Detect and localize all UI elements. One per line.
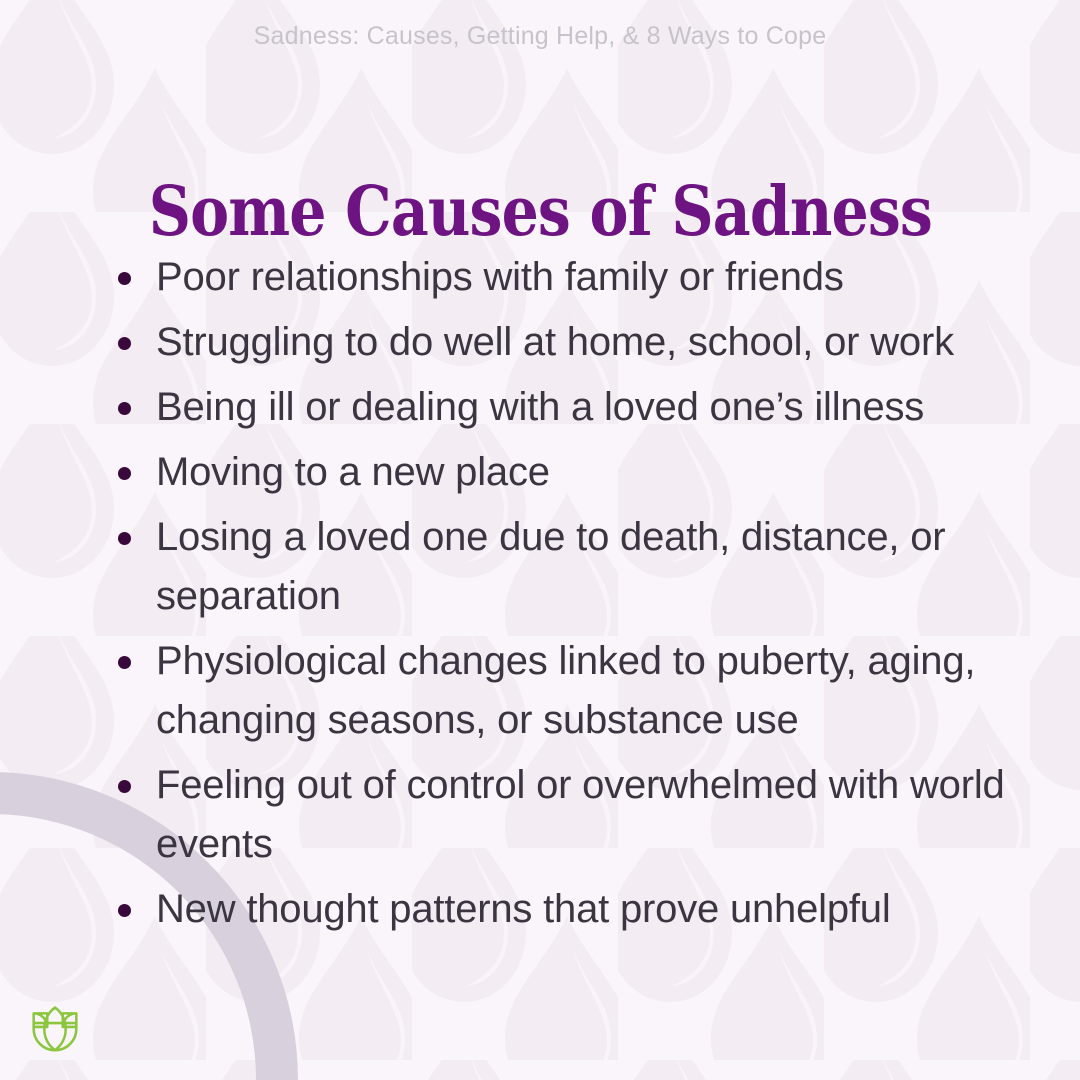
bullet-dot-icon	[118, 467, 131, 480]
bullet-dot-icon	[118, 904, 131, 917]
list-item: Losing a loved one due to death, distanc…	[108, 508, 1028, 626]
list-item-label: Poor relationships with family or friend…	[156, 255, 844, 299]
list-item: New thought patterns that prove unhelpfu…	[108, 880, 1028, 939]
list-item-label: Moving to a new place	[156, 450, 550, 494]
eyebrow-header: Sadness: Causes, Getting Help, & 8 Ways …	[0, 0, 1080, 72]
bullet-dot-icon	[118, 532, 131, 545]
list-item-label: Struggling to do well at home, school, o…	[156, 320, 954, 364]
page-title: Some Causes of Sadness	[148, 178, 931, 246]
list-item: Being ill or dealing with a loved one’s …	[108, 378, 1028, 437]
list-item: Feeling out of control or overwhelmed wi…	[108, 756, 1028, 874]
bullet-dot-icon	[118, 337, 131, 350]
bullet-dot-icon	[118, 402, 131, 415]
bullet-dot-icon	[118, 780, 131, 793]
list-item-label: Physiological changes linked to puberty,…	[156, 639, 975, 742]
causes-list: Poor relationships with family or friend…	[108, 248, 1028, 945]
list-item-label: Feeling out of control or overwhelmed wi…	[156, 763, 1005, 866]
list-item-label: Losing a loved one due to death, distanc…	[156, 515, 945, 618]
list-item: Moving to a new place	[108, 443, 1028, 502]
list-item: Struggling to do well at home, school, o…	[108, 313, 1028, 372]
list-item-label: New thought patterns that prove unhelpfu…	[156, 887, 891, 931]
list-item-label: Being ill or dealing with a loved one’s …	[156, 385, 924, 429]
list-item: Poor relationships with family or friend…	[108, 248, 1028, 307]
bullet-dot-icon	[118, 272, 131, 285]
list-item: Physiological changes linked to puberty,…	[108, 632, 1028, 750]
eyebrow-text: Sadness: Causes, Getting Help, & 8 Ways …	[254, 22, 827, 51]
bullet-dot-icon	[118, 656, 131, 669]
slide-canvas: Sadness: Causes, Getting Help, & 8 Ways …	[0, 0, 1080, 1080]
lotus-leaf-logo-icon	[24, 994, 86, 1056]
